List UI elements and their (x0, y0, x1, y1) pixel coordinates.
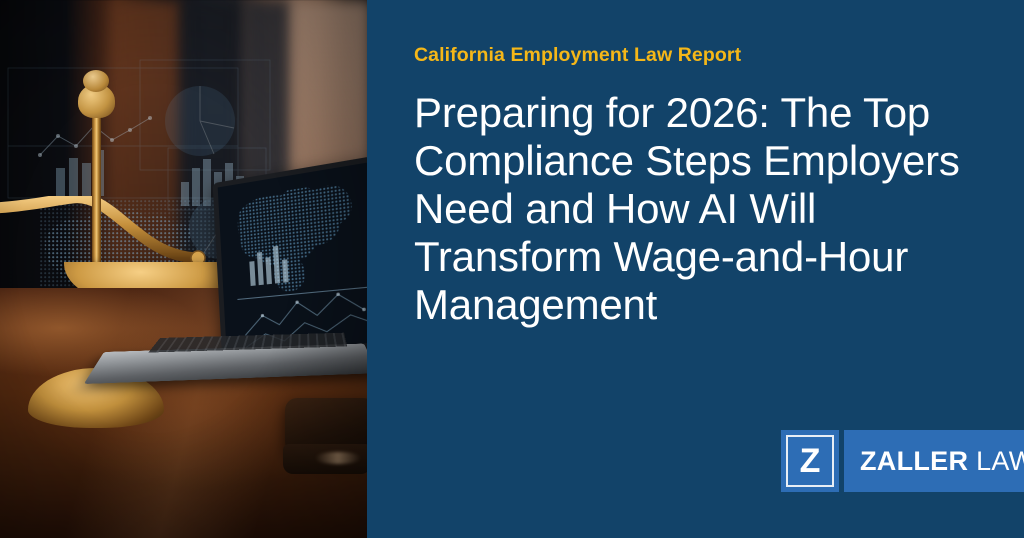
hero-photo (0, 0, 367, 538)
logo-monogram-letter: Z (800, 444, 821, 478)
gavel-highlight (315, 452, 361, 464)
laptop-screen (213, 156, 367, 357)
page-title: Preparing for 2026: The Top Compliance S… (414, 89, 974, 329)
scales-finial-upper (83, 70, 109, 92)
logo-wordmark: ZALLER LAW GROUP, PC (860, 448, 1024, 475)
publication-name: California Employment Law Report (414, 44, 1024, 67)
zaller-law-group-logo[interactable]: Z ZALLER LAW GROUP, PC (781, 430, 1024, 492)
logo-wordmark-band: ZALLER LAW GROUP, PC (844, 430, 1024, 492)
article-header-banner: California Employment Law Report Prepari… (0, 0, 1024, 538)
content-panel: California Employment Law Report Prepari… (367, 0, 1024, 538)
logo-wordmark-light: LAW GROUP, PC (968, 446, 1024, 476)
logo-monogram-mark: Z (781, 430, 839, 492)
logo-wordmark-bold: ZALLER (860, 446, 968, 476)
